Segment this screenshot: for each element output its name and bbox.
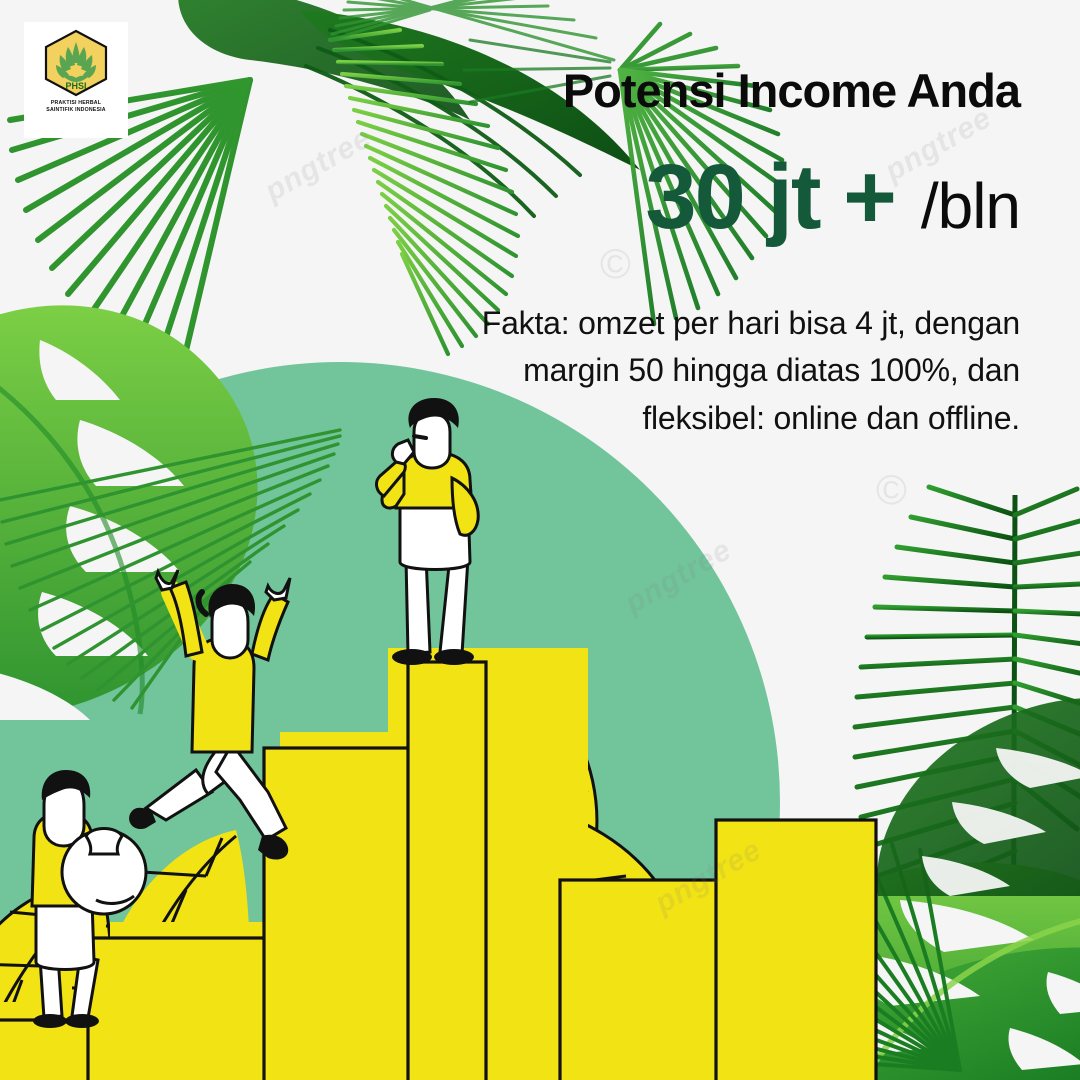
headline-amount: 30 jt +: [645, 146, 894, 248]
brand-logo: PHSI PRAKTISI HERBAL SAINTIFIK INDONESIA: [24, 22, 128, 138]
bar-6: [560, 880, 720, 1080]
figure-climbing: [129, 570, 290, 860]
logo-caption-line1: PRAKTISI HERBAL: [46, 100, 105, 107]
logo-hexagon-icon: PHSI: [39, 28, 113, 98]
page-title: Potensi Income Anda: [420, 66, 1020, 115]
headline-amount-row: 30 jt +/bln: [420, 145, 1020, 250]
logo-caption: PRAKTISI HERBAL SAINTIFIK INDONESIA: [46, 100, 105, 113]
bar-1: [0, 1020, 90, 1080]
bar-2: [88, 938, 268, 1080]
bar-7: [716, 820, 876, 1080]
body-copy: Fakta: omzet per hari bisa 4 jt, dengan …: [440, 300, 1020, 442]
logo-mark-text: PHSI: [65, 81, 86, 91]
headline-period: /bln: [921, 170, 1020, 242]
logo-caption-line2: SAINTIFIK INDONESIA: [46, 107, 105, 114]
bar-4: [408, 662, 486, 1080]
poster-canvas: PHSI PRAKTISI HERBAL SAINTIFIK INDONESIA…: [0, 0, 1080, 1080]
